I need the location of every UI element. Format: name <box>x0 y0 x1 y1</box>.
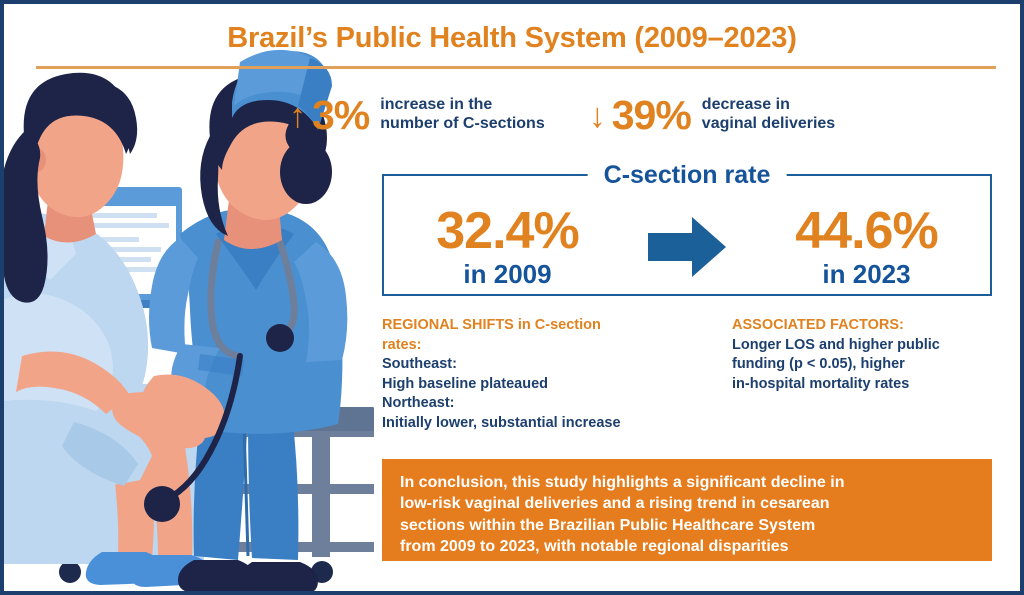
rate-value-2023: 44.6% <box>754 205 979 257</box>
regional-item-southeast: Southeast: High baseline plateaued <box>382 355 732 394</box>
rate-year-2009: in 2009 <box>395 259 620 290</box>
detail-columns: REGIONAL SHIFTS in C-section rates: Sout… <box>382 316 994 433</box>
arrow-up-icon: ↑ <box>289 99 306 133</box>
conclusion-line2: low-risk vaginal deliveries and a rising… <box>400 495 830 512</box>
associated-factors-column: ASSOCIATED FACTORS: Longer LOS and highe… <box>732 316 994 433</box>
c-section-rate-title: C-section rate <box>588 161 787 190</box>
factors-line3: in-hospital mortality rates <box>732 376 909 392</box>
stat-label-c-sections: increase in the number of C-sections <box>380 96 544 134</box>
factors-line1: Longer LOS and higher public <box>732 337 940 353</box>
stat-vaginal-deliveries: ↓ 39% decrease in vaginal deliveries <box>589 95 835 136</box>
rate-after-2023: 44.6% in 2023 <box>754 205 979 290</box>
stat-label-line1: decrease in <box>702 96 790 113</box>
summary-stats-row: ↑ 3% increase in the number of C-section… <box>289 86 1014 144</box>
rate-year-2023: in 2023 <box>754 259 979 290</box>
conclusion-line3: sections within the Brazilian Public Hea… <box>400 517 815 534</box>
conclusion-text: In conclusion, this study highlights a s… <box>400 472 974 558</box>
rate-before-2009: 32.4% in 2009 <box>395 205 620 290</box>
page-title: Brazil’s Public Health System (2009–2023… <box>227 22 796 55</box>
arrow-down-icon: ↓ <box>589 99 606 133</box>
region-desc-southeast: High baseline plateaued <box>382 375 732 395</box>
title-divider <box>36 66 996 69</box>
stat-value-vaginal-deliveries: 39% <box>612 95 691 136</box>
regional-shifts-heading: REGIONAL SHIFTS in C-section rates: <box>382 316 732 355</box>
conclusion-line4: from 2009 to 2023, with notable regional… <box>400 538 789 555</box>
stat-label-vaginal-deliveries: decrease in vaginal deliveries <box>702 96 835 134</box>
factors-line2: funding (p < 0.05), higher <box>732 356 905 372</box>
c-section-rate-box: C-section rate 32.4% in 2009 44.6% in 20… <box>382 174 992 296</box>
region-label-southeast: Southeast: <box>382 355 732 375</box>
page-title-container: Brazil’s Public Health System (2009–2023… <box>4 22 1020 55</box>
associated-factors-heading: ASSOCIATED FACTORS: <box>732 316 994 336</box>
regional-shifts-column: REGIONAL SHIFTS in C-section rates: Sout… <box>382 316 732 433</box>
associated-factors-body: Longer LOS and higher public funding (p … <box>732 336 994 395</box>
infographic-root: Brazil’s Public Health System (2009–2023… <box>0 0 1024 595</box>
stat-label-line2: vaginal deliveries <box>702 115 835 132</box>
arrow-right-icon <box>642 215 732 279</box>
rate-value-2009: 32.4% <box>395 205 620 257</box>
stat-c-sections: ↑ 3% increase in the number of C-section… <box>289 95 545 136</box>
stat-label-line1: increase in the <box>380 96 492 113</box>
regional-heading-line1: REGIONAL SHIFTS in C-section <box>382 317 601 333</box>
c-section-rate-content: 32.4% in 2009 44.6% in 2023 <box>384 188 990 306</box>
conclusion-line1: In conclusion, this study highlights a s… <box>400 474 844 491</box>
stat-label-line2: number of C-sections <box>380 115 544 132</box>
stat-value-c-sections: 3% <box>312 95 369 136</box>
regional-heading-line2: rates: <box>382 337 422 353</box>
region-label-northeast: Northeast: <box>382 394 732 414</box>
regional-item-northeast: Northeast: Initially lower, substantial … <box>382 394 732 433</box>
region-desc-northeast: Initially lower, substantial increase <box>382 414 732 434</box>
conclusion-box: In conclusion, this study highlights a s… <box>382 459 992 561</box>
